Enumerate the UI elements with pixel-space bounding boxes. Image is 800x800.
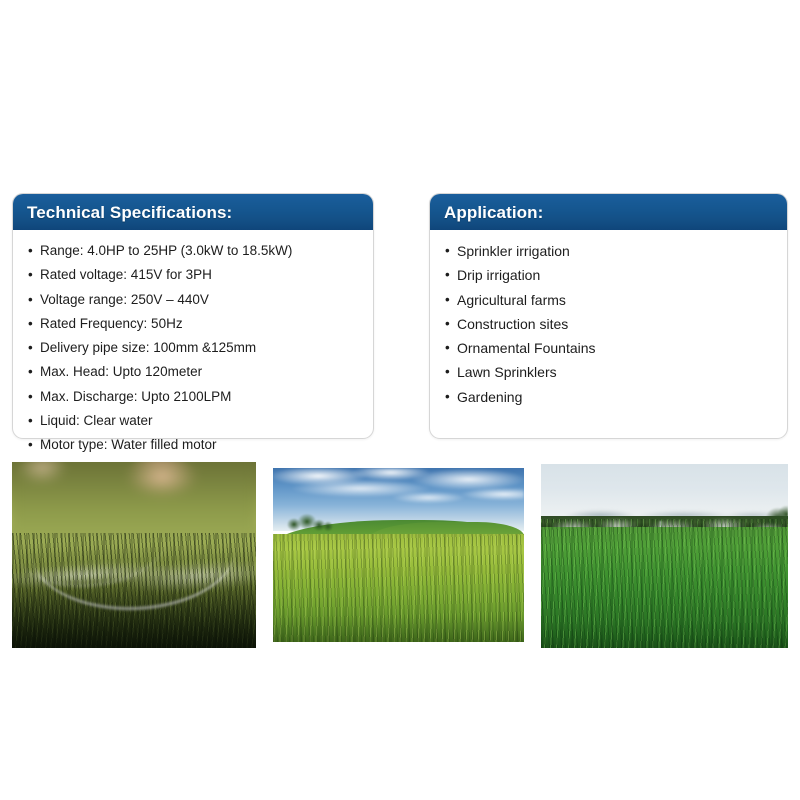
list-item-label: Lawn Sprinklers	[457, 364, 557, 380]
list-item-label: Agricultural farms	[457, 292, 566, 308]
crop-grass-texture	[541, 519, 788, 648]
list-item-label: Voltage range: 250V – 440V	[40, 292, 209, 307]
bullet-icon: •	[28, 336, 33, 360]
photo-field-sprinklers-content	[541, 464, 788, 648]
photo-green-field-sky-content	[273, 468, 524, 642]
bullet-icon: •	[28, 433, 33, 457]
list-item: •Rated voltage: 415V for 3PH	[23, 263, 363, 287]
list-item-label: Rated Frequency: 50Hz	[40, 316, 183, 331]
horizon-tree-cluster	[283, 512, 333, 533]
list-item-label: Max. Head: Upto 120meter	[40, 364, 202, 379]
bullet-icon: •	[445, 385, 450, 409]
bullet-icon: •	[445, 288, 450, 312]
photo-green-field-sky	[273, 468, 524, 642]
list-item-label: Motor type: Water filled motor	[40, 437, 217, 452]
technical-specifications-body: •Range: 4.0HP to 25HP (3.0kW to 18.5kW) …	[13, 230, 373, 468]
bullet-icon: •	[445, 360, 450, 384]
bullet-icon: •	[445, 336, 450, 360]
list-item-label: Range: 4.0HP to 25HP (3.0kW to 18.5kW)	[40, 243, 292, 258]
list-item-label: Sprinkler irrigation	[457, 243, 570, 259]
list-item: •Ornamental Fountains	[440, 336, 777, 360]
list-item: •Max. Head: Upto 120meter	[23, 360, 363, 384]
bullet-icon: •	[28, 239, 33, 263]
list-item: •Sprinkler irrigation	[440, 239, 777, 263]
list-item: •Delivery pipe size: 100mm &125mm	[23, 336, 363, 360]
list-item-label: Max. Discharge: Upto 2100LPM	[40, 389, 231, 404]
bullet-icon: •	[28, 288, 33, 312]
list-item: •Construction sites	[440, 312, 777, 336]
application-panel: Application: •Sprinkler irrigation •Drip…	[429, 193, 788, 439]
application-body: •Sprinkler irrigation •Drip irrigation •…	[430, 230, 787, 419]
list-item: •Lawn Sprinklers	[440, 360, 777, 384]
application-list: •Sprinkler irrigation •Drip irrigation •…	[440, 239, 777, 409]
list-item: •Max. Discharge: Upto 2100LPM	[23, 385, 363, 409]
panel-title: Technical Specifications:	[27, 204, 232, 221]
list-item-label: Ornamental Fountains	[457, 340, 596, 356]
list-item-label: Construction sites	[457, 316, 568, 332]
bullet-icon: •	[445, 312, 450, 336]
photo-field-sprinklers	[541, 464, 788, 648]
list-item: •Gardening	[440, 385, 777, 409]
bullet-icon: •	[28, 385, 33, 409]
list-item-label: Rated voltage: 415V for 3PH	[40, 267, 212, 282]
technical-specifications-list: •Range: 4.0HP to 25HP (3.0kW to 18.5kW) …	[23, 239, 363, 458]
photo-lawn-sprinkler	[12, 462, 256, 648]
technical-specifications-header: Technical Specifications:	[13, 194, 373, 230]
list-item-label: Delivery pipe size: 100mm &125mm	[40, 340, 256, 355]
list-item-label: Liquid: Clear water	[40, 413, 153, 428]
bullet-icon: •	[445, 239, 450, 263]
application-header: Application:	[430, 194, 787, 230]
field-grass-texture	[273, 534, 524, 642]
list-item: •Motor type: Water filled motor	[23, 433, 363, 457]
technical-specifications-panel: Technical Specifications: •Range: 4.0HP …	[12, 193, 374, 439]
list-item-label: Drip irrigation	[457, 267, 540, 283]
bullet-icon: •	[28, 360, 33, 384]
bullet-icon: •	[28, 409, 33, 433]
photo-lawn-sprinkler-content	[12, 462, 256, 648]
bullet-icon: •	[28, 263, 33, 287]
list-item: •Liquid: Clear water	[23, 409, 363, 433]
bullet-icon: •	[445, 263, 450, 287]
list-item-label: Gardening	[457, 389, 522, 405]
list-item: •Agricultural farms	[440, 288, 777, 312]
bullet-icon: •	[28, 312, 33, 336]
list-item: •Range: 4.0HP to 25HP (3.0kW to 18.5kW)	[23, 239, 363, 263]
panel-title: Application:	[444, 204, 543, 221]
foreground-shadow	[12, 574, 256, 648]
list-item: •Rated Frequency: 50Hz	[23, 312, 363, 336]
list-item: •Voltage range: 250V – 440V	[23, 288, 363, 312]
list-item: •Drip irrigation	[440, 263, 777, 287]
